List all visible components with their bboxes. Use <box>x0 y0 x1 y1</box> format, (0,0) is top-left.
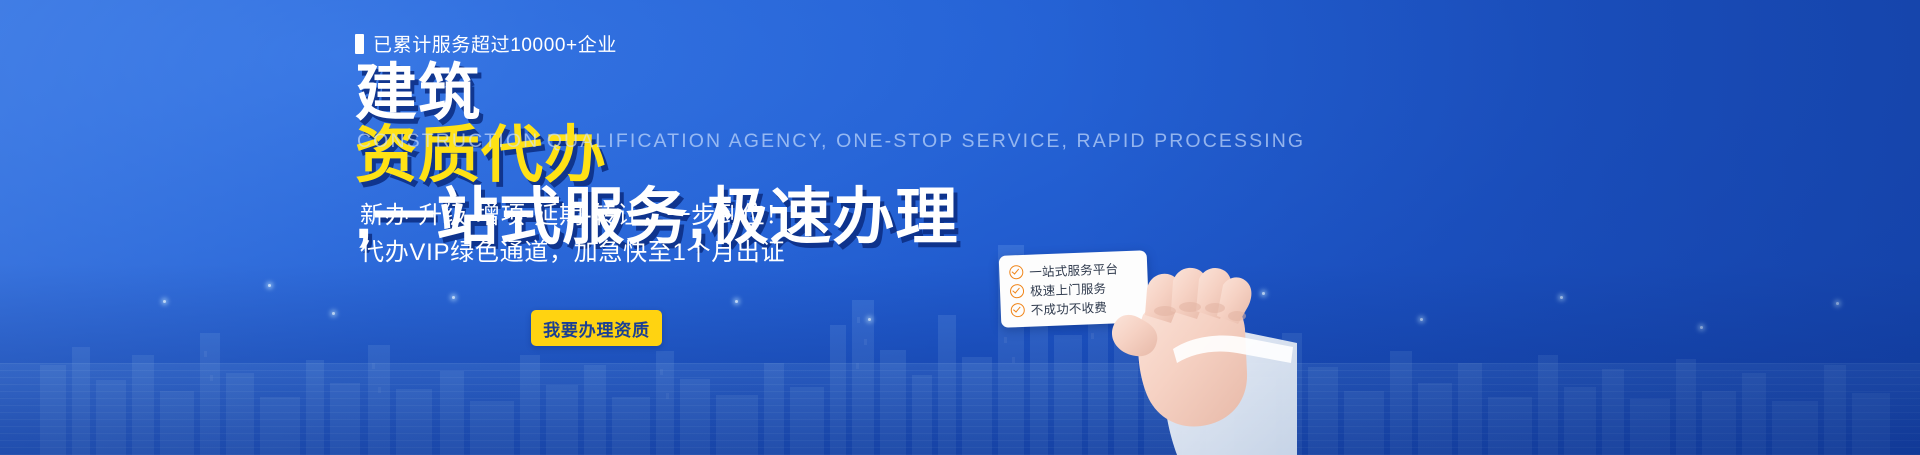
eyebrow-label: 已累计服务超过10000+企业 <box>373 30 617 57</box>
apply-qualification-button[interactable]: 我要办理资质 <box>531 310 662 346</box>
check-circle-icon <box>1010 283 1025 298</box>
headline-part-1: 建筑 <box>355 63 958 125</box>
rectangle-marker-icon <box>355 34 364 54</box>
check-circle-icon <box>1009 264 1024 279</box>
hand-holding-card-icon <box>1107 223 1297 455</box>
hand-with-card: 一站式服务平台 极速上门服务 不成功不收费 <box>995 225 1295 455</box>
english-subtitle: CONSTRUCTION QUALIFICATION AGENCY, ONE-S… <box>357 130 1305 153</box>
feature-line-1: 新办-升级-增项-延期-转让，一步到位！ <box>360 195 790 230</box>
promo-banner: 已累计服务超过10000+企业 建筑资质代办,一站式服务,极速办理 CONSTR… <box>0 0 1920 455</box>
benefit-label: 不成功不收费 <box>1030 297 1107 319</box>
check-circle-icon <box>1010 302 1025 317</box>
feature-line-2: 代办VIP绿色通道，加急快至1个月出证 <box>360 232 785 267</box>
eyebrow-line: 已累计服务超过10000+企业 <box>355 30 617 57</box>
